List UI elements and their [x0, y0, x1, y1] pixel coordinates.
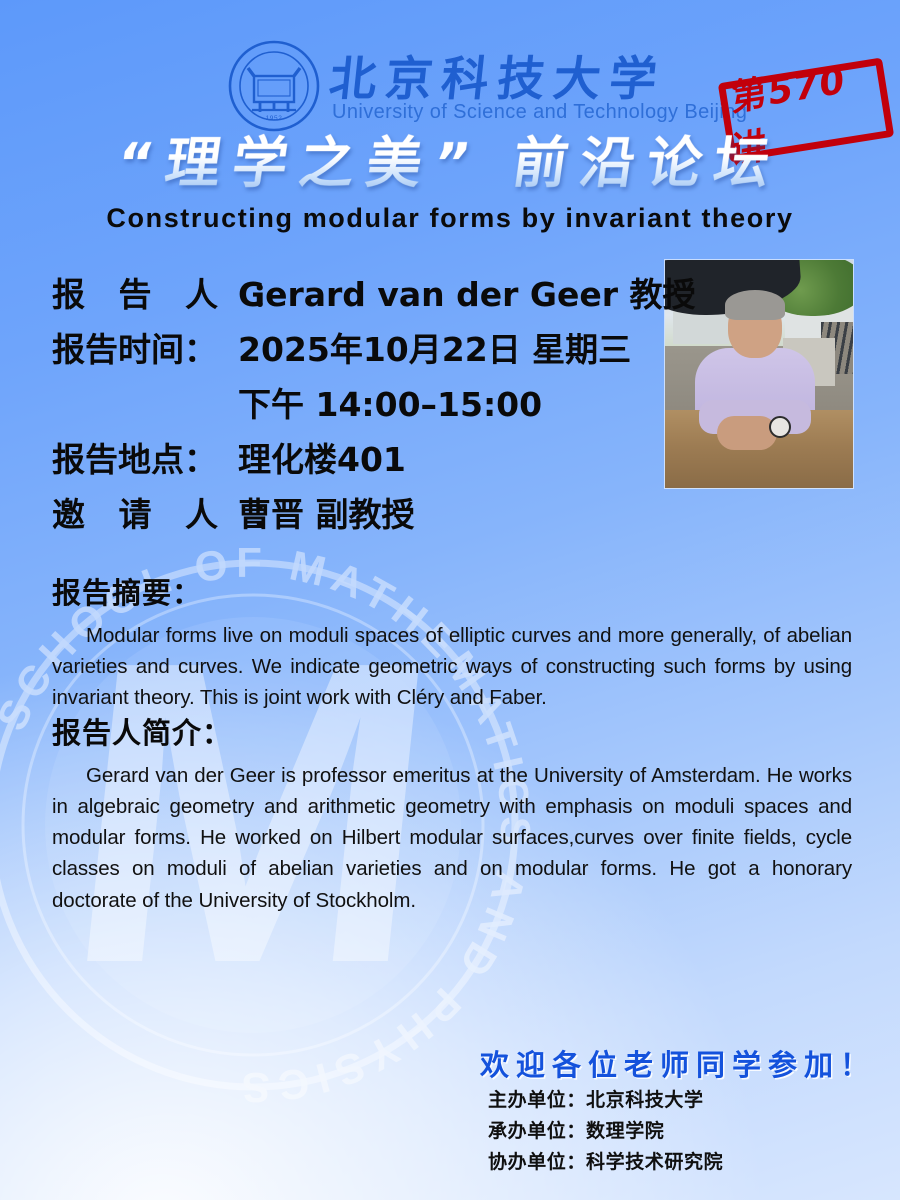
info-value-inviter: 曹晋 副教授 [238, 488, 415, 536]
welcome-message: 欢迎各位老师同学参加！ [480, 1042, 870, 1084]
photo-hands [717, 416, 777, 450]
info-row-datetime: 报告时间： 2025年10月22日 星期三 [52, 323, 672, 378]
info-row-speaker: 报 告 人 ： Gerard van der Geer 教授 [52, 268, 672, 323]
poster-root: SCHOOL OF MATHEMATICS AND PHYSICS M 1952… [0, 0, 900, 1200]
info-value-speaker: Gerard van der Geer 教授 [238, 268, 696, 316]
info-label-datetime: 报告时间： [52, 323, 238, 371]
abstract-body: Modular forms live on moduli spaces of e… [52, 620, 852, 713]
organizers-block: 主办单位：北京科技大学 承办单位：数理学院 协办单位：科学技术研究院 [488, 1085, 868, 1177]
poster-header: 1952 北京科技大学 University of Science and Te… [0, 18, 900, 118]
organizer-host: 主办单位：北京科技大学 [488, 1085, 868, 1116]
info-label-inviter: 邀 请 人 ： [52, 488, 238, 536]
photo-wristwatch [769, 416, 791, 438]
event-info-block: 报 告 人 ： Gerard van der Geer 教授 报告时间： 202… [52, 268, 672, 543]
biography-body: Gerard van der Geer is professor emeritu… [52, 760, 852, 916]
talk-title: Constructing modular forms by invariant … [0, 203, 900, 234]
info-value-time: 下午 14:00–15:00 [238, 378, 542, 426]
university-name-cn: 北京科技大学 [326, 40, 669, 109]
info-label-speaker: 报 告 人 ： [52, 268, 238, 316]
info-value-location: 理化楼401 [238, 433, 406, 481]
abstract-heading: 报告摘要： [52, 570, 852, 612]
info-row-location: 报告地点： 理化楼401 [52, 433, 672, 488]
info-label-location: 报告地点： [52, 433, 238, 481]
abstract-section: 报告摘要： Modular forms live on moduli space… [52, 570, 852, 713]
info-row-time: 报告时间： 下午 14:00–15:00 [52, 378, 672, 433]
organizer-cohost: 协办单位：科学技术研究院 [488, 1147, 868, 1178]
info-row-inviter: 邀 请 人 ： 曹晋 副教授 [52, 488, 672, 543]
biography-heading: 报告人简介： [52, 710, 852, 752]
organizer-coordinator: 承办单位：数理学院 [488, 1116, 868, 1147]
forum-title: “理学之美” 前沿论坛 [0, 118, 900, 198]
biography-section: 报告人简介： Gerard van der Geer is professor … [52, 710, 852, 916]
info-value-date: 2025年10月22日 星期三 [238, 323, 631, 371]
photo-hair [725, 290, 785, 320]
